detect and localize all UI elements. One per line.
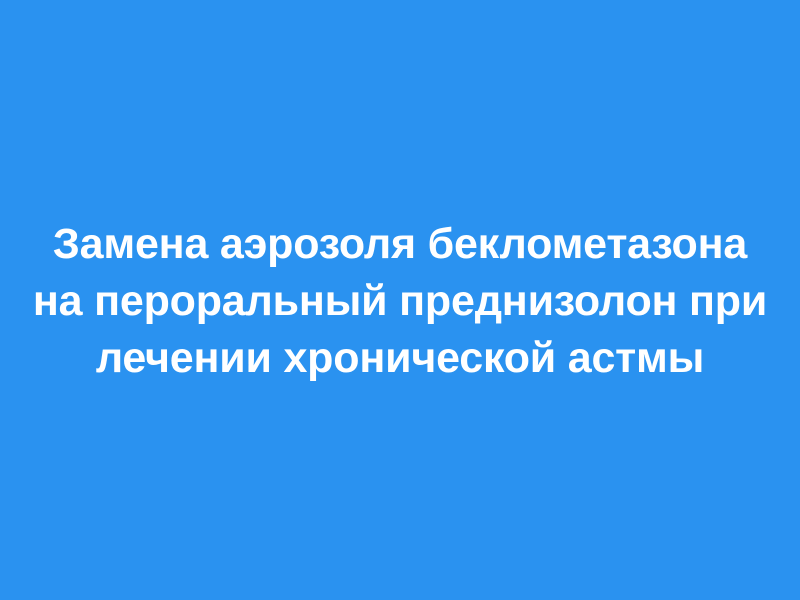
page-title: Замена аэрозоля беклометазона на перорал… [0,216,800,387]
page-title-line-1: Замена аэрозоля беклометазона [24,216,776,273]
title-card: Замена аэрозоля беклометазона на перорал… [0,0,800,600]
page-title-line-3: лечении хронической астмы [24,330,776,387]
page-title-line-2: на пероральный преднизолон при [24,273,776,330]
